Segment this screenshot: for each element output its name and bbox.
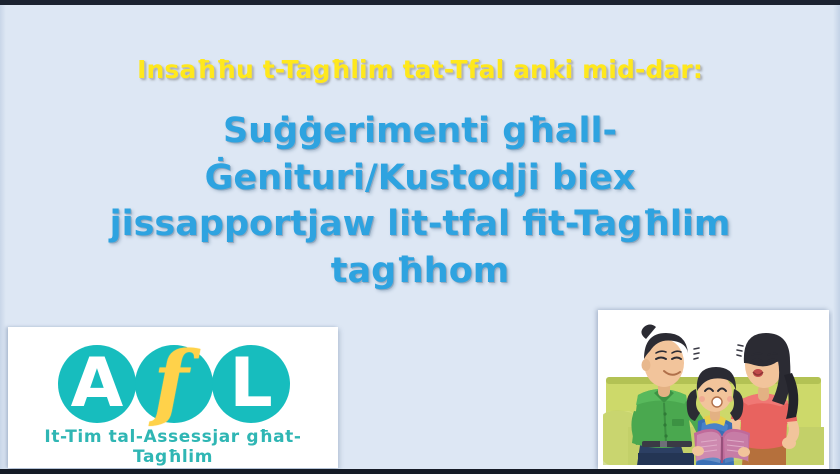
presentation-slide: Insaħħu t-Tagħlim tat-Tfal anki mid-dar:… (0, 0, 840, 474)
title-line-1: Suġġerimenti għall- (60, 108, 780, 155)
afl-logo-tagline: It-Tim tal-Assessjar għat-Tagħlim (8, 427, 338, 467)
slide-kicker-heading: Insaħħu t-Tagħlim tat-Tfal anki mid-dar: (0, 55, 840, 84)
family-illustration-image: Illustration of a family sitting on a so… (603, 315, 824, 465)
logo-letter-f: f (132, 345, 210, 423)
family-illustration-card: Illustration of a family sitting on a so… (598, 310, 829, 470)
logo-letter-l: L (212, 345, 290, 423)
logo-letter-a: A (58, 345, 136, 423)
title-line-3: jissapportjaw lit-tfal fit-Tagħlim (60, 201, 780, 248)
afl-logo-mark: A f L (58, 345, 290, 423)
slide-main-title: Suġġerimenti għall- Ġenituri/Kustodji bi… (60, 108, 780, 294)
title-line-2: Ġenituri/Kustodji biex (60, 155, 780, 202)
afl-logo-card: A f L It-Tim tal-Assessjar għat-Tagħlim (8, 327, 338, 468)
title-line-4: tagħhom (60, 248, 780, 295)
